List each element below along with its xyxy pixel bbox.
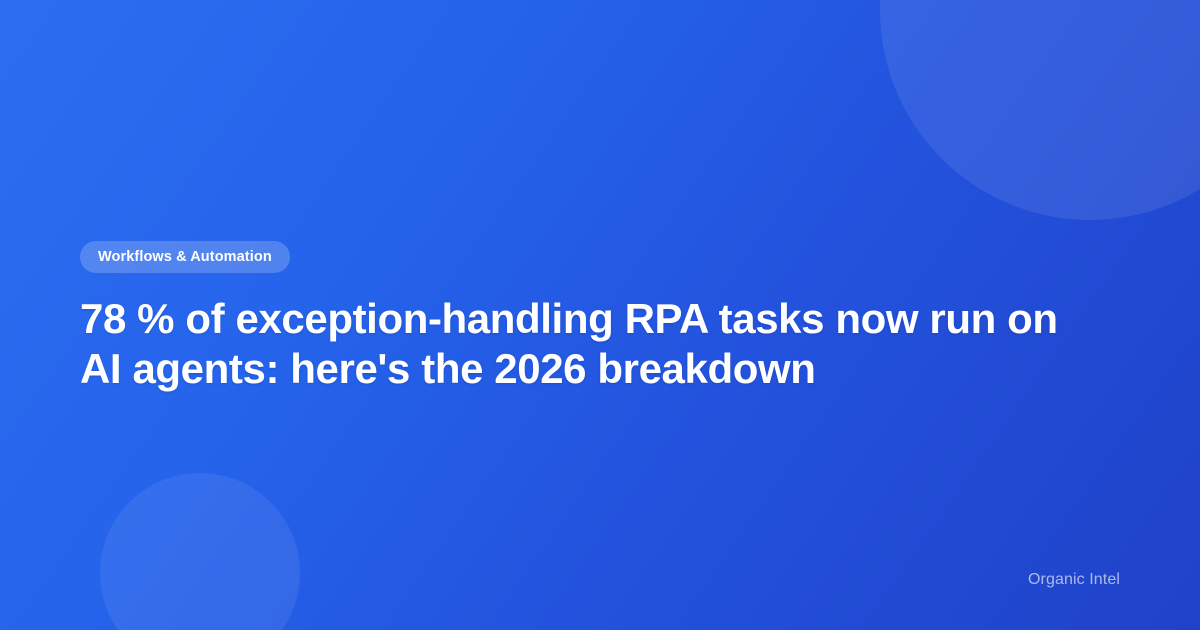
category-badge: Workflows & Automation: [80, 241, 290, 273]
card-content: Workflows & Automation 78 % of exception…: [80, 241, 1090, 394]
decorative-circle-bottom-left: [100, 473, 300, 630]
page-title: 78 % of exception-handling RPA tasks now…: [80, 294, 1080, 394]
social-share-card: Workflows & Automation 78 % of exception…: [0, 0, 1200, 630]
decorative-circle-top-right: [880, 0, 1200, 220]
brand-name: Organic Intel: [1028, 568, 1120, 592]
